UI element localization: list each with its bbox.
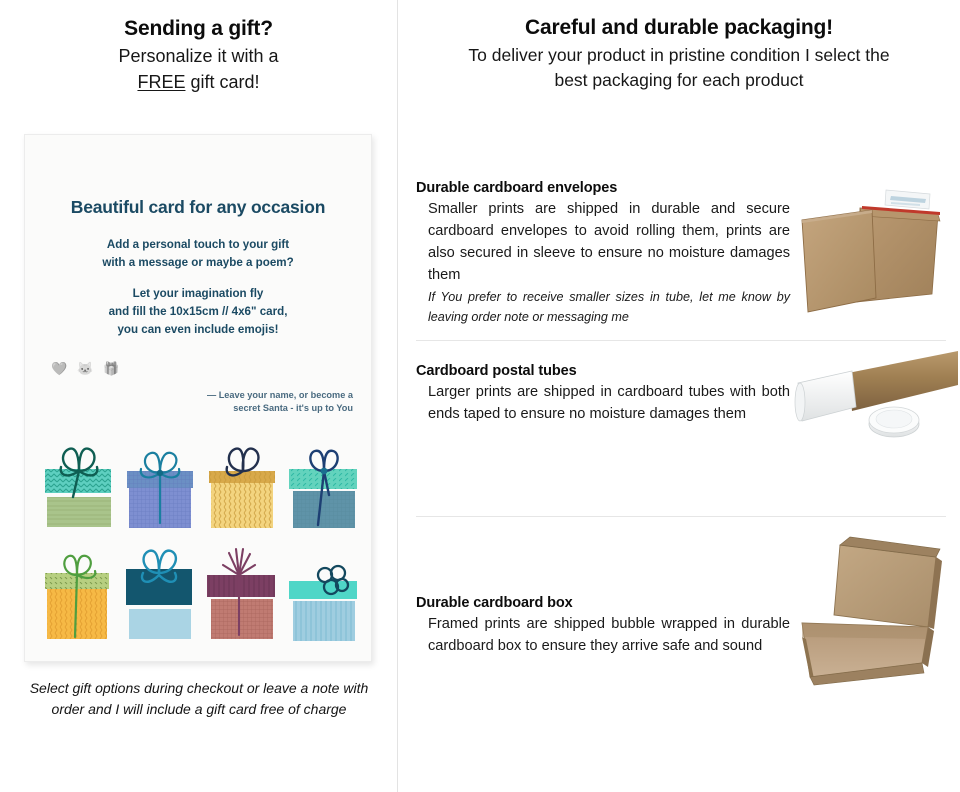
right-sub-line2: best packaging for each product [412, 68, 946, 93]
left-sub-line1: Personalize it with a [118, 46, 278, 66]
gift-illustration-lightblue-stripe [285, 537, 361, 649]
gift-card-body: Add a personal touch to your gift with a… [25, 236, 371, 339]
gift-card-body-block-1: Add a personal touch to your gift with a… [25, 236, 371, 272]
section-text-tubes: Larger prints are shipped in cardboard t… [428, 382, 790, 426]
gift-card-body-line3: Let your imagination fly [25, 285, 371, 303]
right-sub-line1: To deliver your product in pristine cond… [412, 43, 946, 68]
packaging-section-envelopes: Durable cardboard envelopes Smaller prin… [416, 162, 946, 340]
section-text-envelopes: Smaller prints are shipped in durable an… [428, 199, 790, 287]
gift-illustration-teal-chevron [39, 423, 115, 535]
section-note-envelopes: If You prefer to receive smaller sizes i… [428, 287, 790, 328]
gift-card-body-line2: with a message or maybe a poem? [25, 254, 371, 272]
gift-icon: 🎁 [103, 361, 119, 377]
gift-illustration-blue-grid [121, 423, 197, 535]
left-header: Sending a gift? Personalize it with a FR… [0, 0, 397, 95]
gift-card-body-line1: Add a personal touch to your gift [25, 236, 371, 254]
cardboard-envelopes-photo [790, 178, 958, 318]
gift-illustration-navy-plain [121, 537, 197, 649]
infographic-page: Sending a gift? Personalize it with a FR… [0, 0, 960, 792]
gift-card-signature: — Leave your name, or become a secret Sa… [25, 389, 353, 416]
gift-card-signature-line1: — Leave your name, or become a [25, 389, 353, 402]
gift-card-body-block-2: Let your imagination fly and fill the 10… [25, 285, 371, 339]
packaging-section-box: Durable cardboard box Framed prints are … [416, 516, 946, 696]
gift-illustration-teal-stripe [285, 423, 361, 535]
cat-face-icon: 🐱 [77, 361, 93, 377]
gift-card-column: Sending a gift? Personalize it with a FR… [0, 0, 398, 792]
left-sub-line2: gift card! [185, 72, 259, 92]
gift-options-caption: Select gift options during checkout or l… [20, 678, 378, 720]
cardboard-tube-photo [786, 349, 958, 459]
right-heading: Careful and durable packaging! [412, 16, 946, 40]
packaging-sections: Durable cardboard envelopes Smaller prin… [416, 162, 946, 696]
gift-illustration-orange-wave [39, 537, 115, 649]
right-header: Careful and durable packaging! To delive… [398, 0, 960, 93]
right-subheading: To deliver your product in pristine cond… [412, 43, 946, 93]
heart-icon: 🩶 [51, 361, 67, 377]
gift-illustration-yellow-weave [203, 423, 279, 535]
packaging-column: Careful and durable packaging! To delive… [398, 0, 960, 792]
gift-card-body-line4: and fill the 10x15cm // 4x6" card, [25, 303, 371, 321]
free-emphasis: FREE [137, 72, 185, 92]
gift-illustration-purple-rose [203, 537, 279, 649]
left-heading: Sending a gift? [18, 16, 379, 42]
cardboard-box-photo [788, 527, 958, 687]
gift-card-emoji-row: 🩶 🐱 🎁 [51, 361, 371, 377]
gift-card-body-line5: you can even include emojis! [25, 321, 371, 339]
gift-illustration-grid [39, 423, 361, 649]
section-text-box: Framed prints are shipped bubble wrapped… [428, 614, 790, 658]
gift-card-title: Beautiful card for any occasion [25, 197, 371, 218]
gift-card-preview: Beautiful card for any occasion Add a pe… [24, 134, 372, 662]
gift-card-signature-line2: secret Santa - it's up to You [25, 402, 353, 415]
packaging-section-tubes: Cardboard postal tubes Larger prints are… [416, 340, 946, 516]
left-subheading: Personalize it with a FREE gift card! [18, 44, 379, 95]
